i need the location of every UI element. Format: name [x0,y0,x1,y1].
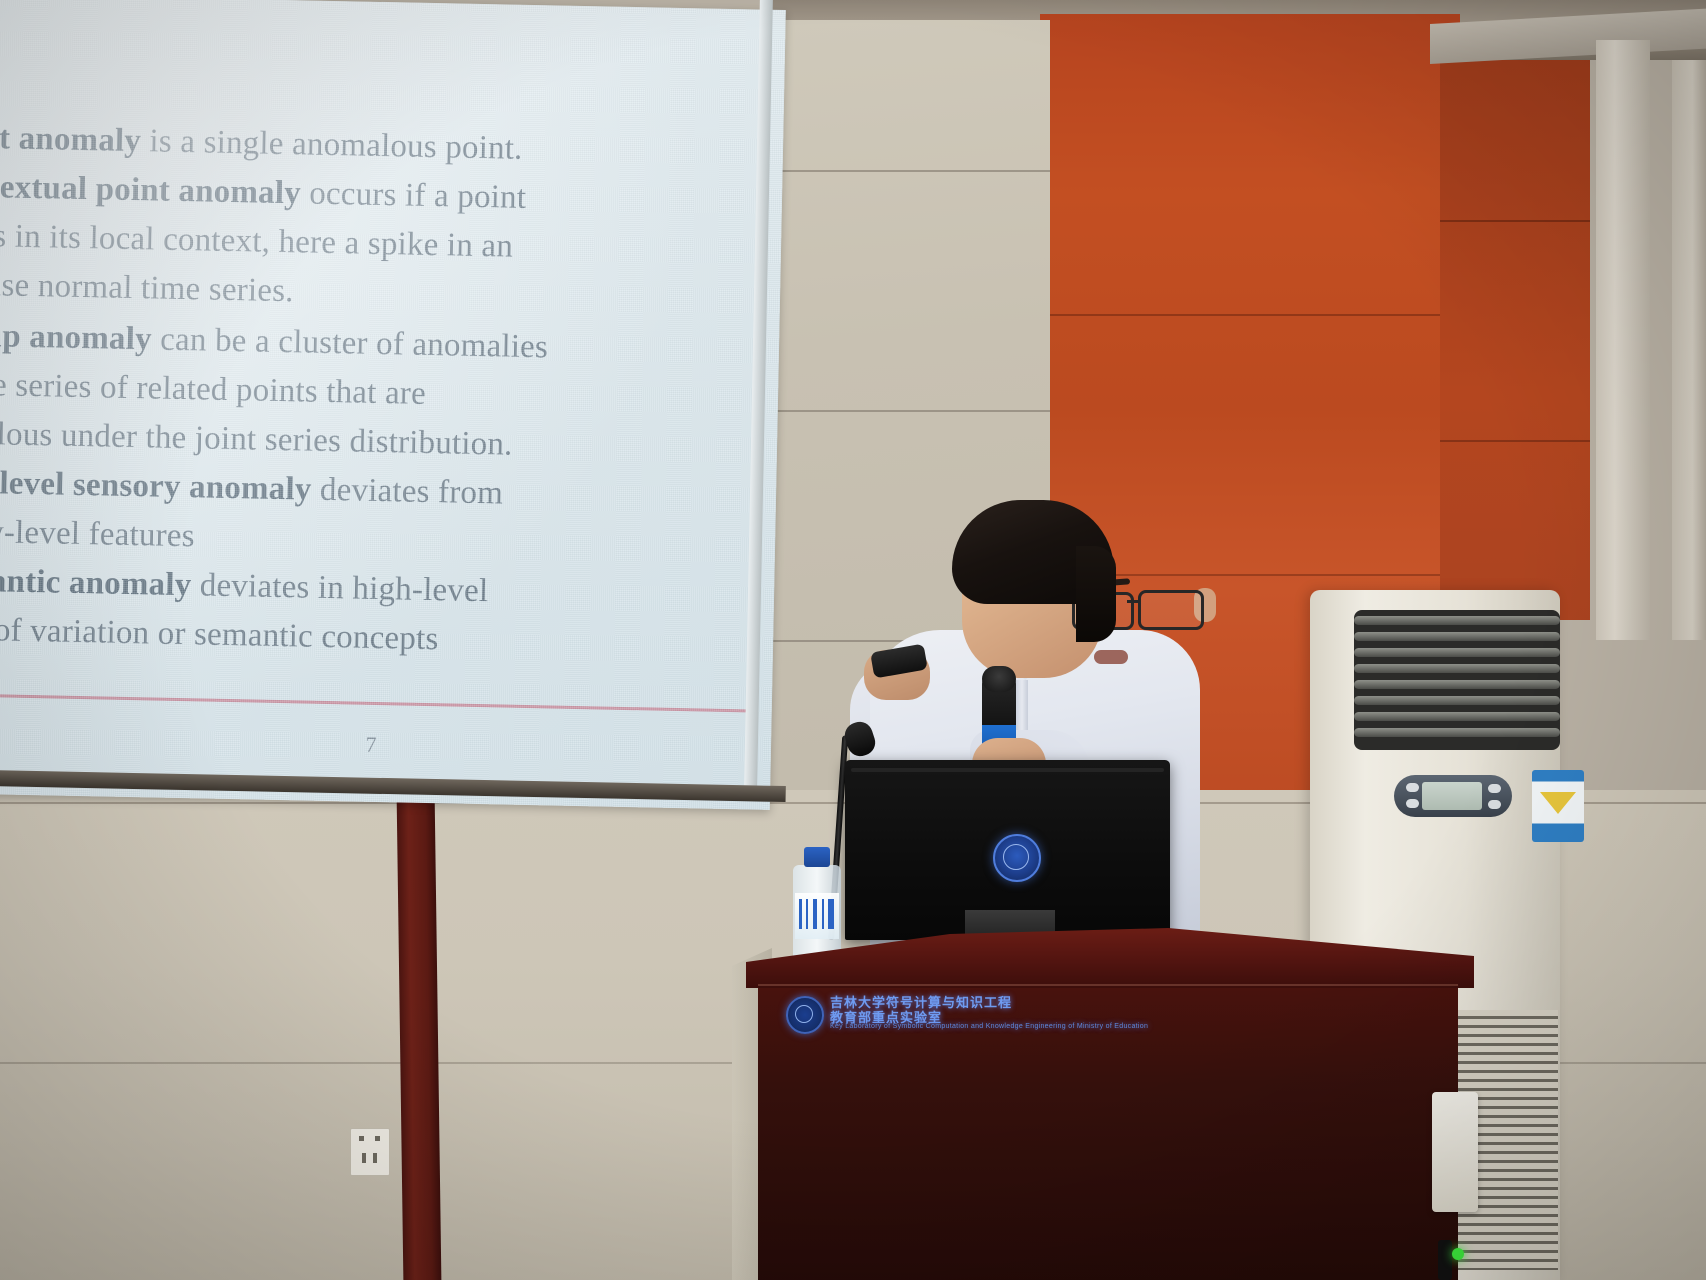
ac-button-power[interactable] [1488,800,1501,809]
pillar-red-strip [397,795,442,1280]
wall-panel-orange-right [1440,60,1590,620]
microphone-grille [982,666,1016,692]
ac-button-up[interactable] [1406,783,1419,792]
podium-plaque: 吉林大学符号计算与知识工程 教育部重点实验室 Key Laboratory of… [786,992,1166,1034]
bottle-cap [804,847,830,867]
university-seal-sticker-icon [993,834,1041,882]
ac-button-mode[interactable] [1488,784,1501,793]
glasses-bridge [1127,600,1141,603]
ac-control-panel[interactable] [1394,775,1512,817]
green-status-led-icon [1452,1248,1464,1260]
presenter-mouth [1094,650,1128,664]
power-cable [1438,1240,1452,1280]
ac-lcd-display [1422,782,1482,810]
projection-screen: int anomaly is a single anomalous point.… [0,0,786,810]
podium-trim-line [758,984,1458,986]
monitor-bezel-highlight [851,768,1164,772]
presenter-hair-side [1076,546,1116,642]
lecture-hall-scene: int anomaly is a single anomalous point.… [0,0,1706,1280]
university-seal-icon [786,996,824,1034]
ac-button-down[interactable] [1406,799,1419,808]
ac-vent-grille [1354,610,1560,750]
pillar-right-outer [1672,60,1706,640]
slide-page-number: 7 [331,731,412,759]
glasses-right-lens [1138,590,1204,630]
plaque-line-en: Key Laboratory of Symbolic Computation a… [830,1023,1148,1030]
energy-chevron-icon [1540,792,1576,814]
desktop-monitor [845,760,1170,940]
energy-efficiency-label [1532,770,1584,842]
pillar-right [1596,40,1650,640]
podium-top-rail [746,928,1474,988]
wall-power-socket[interactable] [350,1128,390,1176]
slide-divider-rule [0,694,752,713]
wall-junction-plate[interactable] [1432,1092,1478,1212]
podium: 吉林大学符号计算与知识工程 教育部重点实验室 Key Laboratory of… [740,920,1480,1280]
